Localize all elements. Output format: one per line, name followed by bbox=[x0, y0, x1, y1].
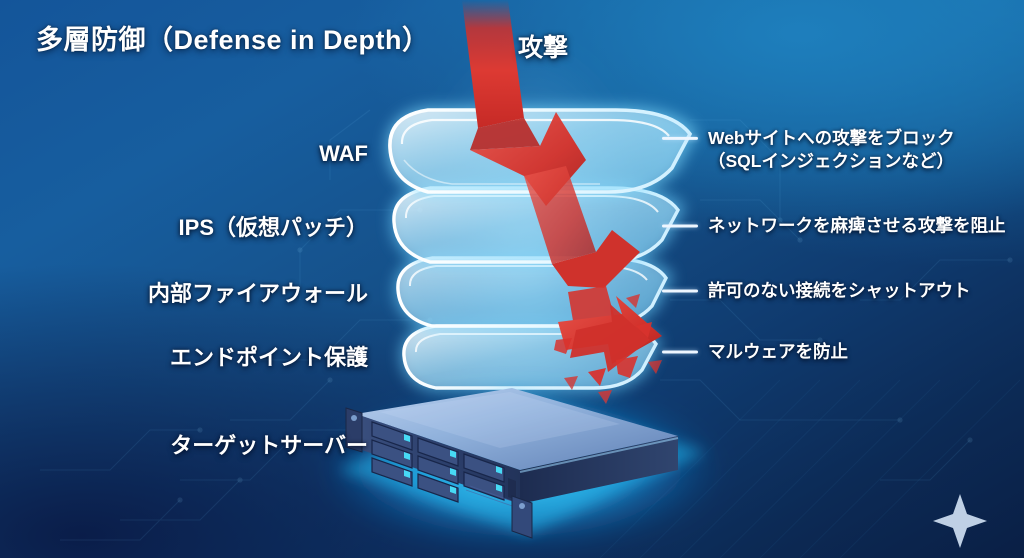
annotation-text-firewall: 許可のない接続をシャットアウト bbox=[708, 279, 971, 302]
annotation-text-ips: ネットワークを麻痺させる攻撃を阻止 bbox=[708, 214, 1006, 237]
layer-label-target-server: ターゲットサーバー bbox=[170, 428, 368, 460]
annotation-waf: Webサイトへの攻撃をブロック （SQLインジェクションなど） bbox=[662, 127, 955, 173]
annotation-text-endpoint: マルウェアを防止 bbox=[708, 340, 848, 363]
annotation-line: Webサイトへの攻撃をブロック bbox=[708, 127, 955, 150]
leader-line-waf bbox=[662, 137, 698, 140]
layer-label-ips: IPS（仮想パッチ） bbox=[179, 210, 368, 242]
annotation-line: マルウェアを防止 bbox=[708, 340, 848, 363]
sparkle-icon bbox=[933, 494, 987, 548]
leader-line-firewall bbox=[662, 289, 698, 292]
defense-in-depth-diagram: 多層防御（Defense in Depth） 攻撃 WAF IPS（仮想パッチ）… bbox=[0, 0, 1024, 558]
leader-line-ips bbox=[662, 224, 698, 227]
annotation-ips: ネットワークを麻痺させる攻撃を阻止 bbox=[662, 214, 1006, 237]
annotation-text-waf: Webサイトへの攻撃をブロック （SQLインジェクションなど） bbox=[708, 127, 955, 173]
annotation-line: 許可のない接続をシャットアウト bbox=[708, 279, 971, 302]
layer-label-endpoint: エンドポイント保護 bbox=[170, 340, 368, 372]
layer-label-waf: WAF bbox=[319, 141, 368, 167]
attack-label: 攻撃 bbox=[518, 28, 568, 64]
annotation-line: ネットワークを麻痺させる攻撃を阻止 bbox=[708, 214, 1006, 237]
layer-label-firewall: 内部ファイアウォール bbox=[148, 276, 368, 308]
leader-line-endpoint bbox=[662, 350, 698, 353]
annotation-line: （SQLインジェクションなど） bbox=[708, 150, 955, 173]
layer-label-column: WAF IPS（仮想パッチ） 内部ファイアウォール エンドポイント保護 ターゲッ… bbox=[0, 0, 368, 558]
annotation-endpoint: マルウェアを防止 bbox=[662, 340, 848, 363]
annotation-firewall: 許可のない接続をシャットアウト bbox=[662, 279, 971, 302]
